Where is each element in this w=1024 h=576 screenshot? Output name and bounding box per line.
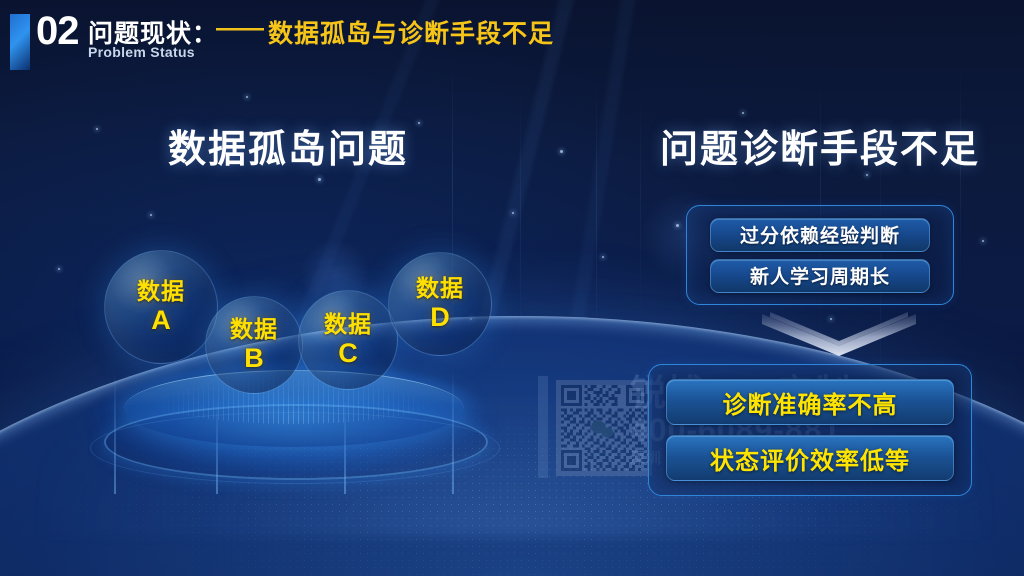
data-sphere-d[interactable]: 数据 D [388,252,492,356]
section-number: 02 [36,8,79,54]
data-sphere-a-key: A [137,306,185,334]
data-sphere-a-label: 数据 A [137,280,185,334]
data-sphere-c[interactable]: 数据 C [298,290,398,390]
header-dash: —— [216,14,262,43]
data-sphere-d-label: 数据 D [416,277,464,331]
header-subtitle-en: Problem Status [88,44,195,60]
issue-pill-low-accuracy[interactable]: 诊断准确率不高 [666,379,954,425]
issue-pill-low-efficiency[interactable]: 状态评价效率低等 [666,435,954,481]
diagnosis-issues-panel-top[interactable]: 过分依赖经验判断 新人学习周期长 [686,205,954,305]
right-section-title: 问题诊断手段不足 [660,118,980,173]
issue-pill-long-learning-cycle[interactable]: 新人学习周期长 [710,259,930,293]
slide-canvas: 02 问题现状： —— 数据孤岛与诊断手段不足 Problem Status 数… [0,0,1024,576]
data-sphere-b[interactable]: 数据 B [205,296,303,394]
data-sphere-c-word: 数据 [324,313,372,337]
data-sphere-a[interactable]: 数据 A [104,250,218,364]
data-sphere-a-word: 数据 [137,280,185,304]
diagnosis-issues-panel-bottom[interactable]: 诊断准确率不高 状态评价效率低等 [648,364,972,496]
data-sphere-d-word: 数据 [416,277,464,301]
data-sphere-c-key: C [324,339,372,367]
data-sphere-d-key: D [416,303,464,331]
data-sphere-b-label: 数据 B [230,318,278,372]
issue-pill-over-reliance[interactable]: 过分依赖经验判断 [710,218,930,252]
header-title-accent: 数据孤岛与诊断手段不足 [268,14,554,50]
data-sphere-b-key: B [230,344,278,372]
data-sphere-b-word: 数据 [230,318,278,342]
data-sphere-c-label: 数据 C [324,313,372,367]
header-accent-bar [10,14,30,70]
left-section-title: 数据孤岛问题 [168,118,408,173]
